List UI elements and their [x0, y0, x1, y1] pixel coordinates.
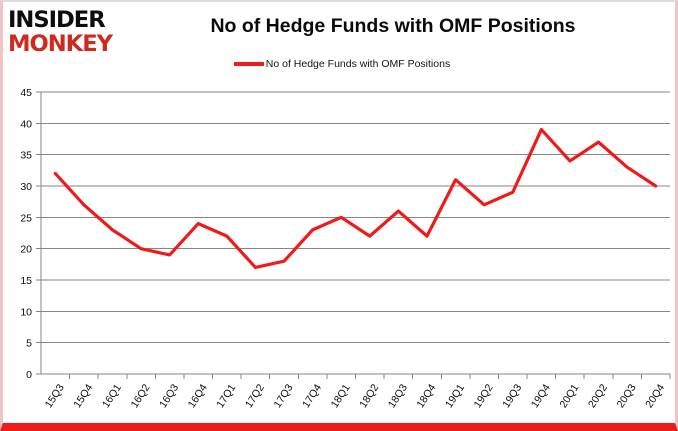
x-axis-tick-label: 18Q3 [386, 382, 410, 410]
y-axis-tick-label: 45 [20, 87, 32, 99]
logo-text-insider: INSIDER [8, 10, 134, 32]
y-axis-tick-label: 40 [20, 118, 32, 130]
x-axis-tick-label: 20Q4 [643, 382, 667, 410]
line-chart-svg: 051015202530354045 15Q315Q416Q116Q216Q31… [3, 80, 678, 425]
gridlines [41, 92, 670, 374]
x-axis-tick-label: 16Q3 [157, 382, 181, 410]
logo-text-monkey: MONKEY [8, 34, 134, 56]
x-axis-tick-label: 17Q4 [300, 382, 324, 410]
x-axis-tick-label: 19Q1 [443, 382, 467, 410]
x-axis-tick-label: 20Q1 [557, 382, 581, 410]
x-axis-tick-label: 19Q3 [500, 382, 524, 410]
legend-label: No of Hedge Funds with OMF Positions [266, 58, 450, 70]
x-axis-tick-label: 17Q1 [214, 382, 238, 410]
x-axis-tick-label: 19Q4 [529, 382, 553, 410]
x-axis-tick-label: 15Q3 [43, 382, 67, 410]
x-axis-tick-label: 16Q1 [100, 382, 124, 410]
insider-monkey-logo: INSIDER MONKEY [8, 10, 130, 58]
chart-legend: No of Hedge Funds with OMF Positions [3, 58, 678, 70]
y-axis-tick-label: 35 [20, 150, 32, 162]
y-axis-tick-label: 0 [26, 369, 32, 381]
x-axis-tick-label: 16Q2 [129, 382, 153, 410]
x-axis-tick-label: 18Q2 [357, 382, 381, 410]
plot-area: 051015202530354045 15Q315Q416Q116Q216Q31… [3, 80, 678, 425]
y-axis-tick-label: 30 [20, 181, 32, 193]
x-axis-tick-label: 19Q2 [472, 382, 496, 410]
y-axis-tick-label: 20 [20, 244, 32, 256]
x-axis-ticks: 15Q315Q416Q116Q216Q316Q417Q117Q217Q317Q4… [43, 374, 670, 410]
y-axis-tick-label: 25 [20, 212, 32, 224]
x-axis-tick-label: 17Q3 [271, 382, 295, 410]
axes [41, 92, 670, 374]
x-axis-tick-label: 17Q2 [243, 382, 267, 410]
y-axis-tick-label: 15 [20, 275, 32, 287]
x-axis-tick-label: 16Q4 [186, 382, 210, 410]
x-axis-tick-label: 20Q2 [586, 382, 610, 410]
data-series-line [55, 130, 655, 268]
y-axis-tick-label: 5 [26, 338, 32, 350]
chart-page: INSIDER MONKEY No of Hedge Funds with OM… [0, 0, 678, 431]
x-axis-tick-label: 20Q3 [615, 382, 639, 410]
legend-color-swatch [234, 62, 264, 66]
y-axis-ticks: 051015202530354045 [20, 87, 41, 381]
y-axis-tick-label: 10 [20, 306, 32, 318]
series-line-no-of-hedge-funds-with-omf-positions [55, 130, 655, 268]
chart-title: No of Hedge Funds with OMF Positions [133, 15, 653, 38]
x-axis-tick-label: 18Q4 [414, 382, 438, 410]
x-axis-tick-label: 15Q4 [71, 382, 95, 410]
x-axis-tick-label: 18Q1 [329, 382, 353, 410]
